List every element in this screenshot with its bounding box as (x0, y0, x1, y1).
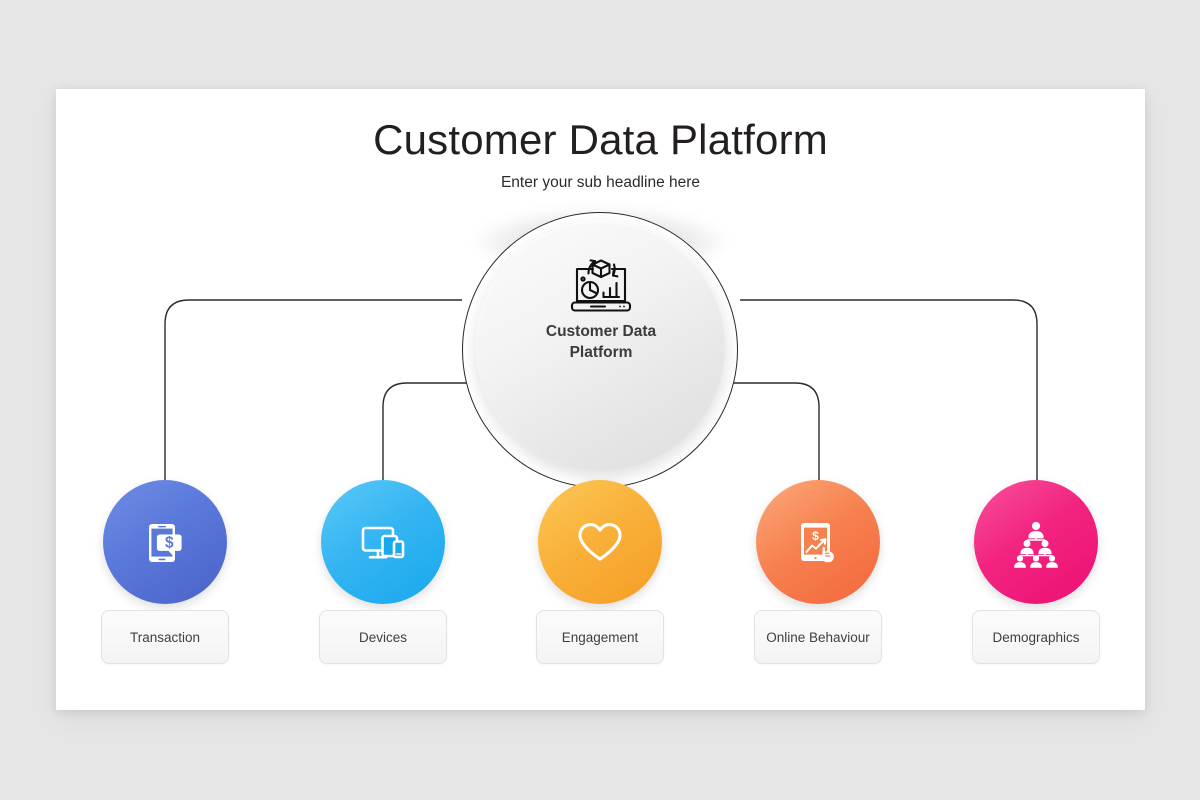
node-label-transaction[interactable]: Transaction (101, 610, 229, 664)
heart-icon (573, 515, 627, 569)
node-circle-demographics[interactable] (974, 480, 1098, 604)
people-hierarchy-icon (1009, 515, 1063, 569)
connector-online-behaviour (732, 383, 819, 480)
node-label-text-demographics: Demographics (992, 630, 1079, 645)
node-label-text-engagement: Engagement (562, 630, 639, 645)
node-circle-devices[interactable] (321, 480, 445, 604)
node-label-text-transaction: Transaction (130, 630, 200, 645)
node-label-engagement[interactable]: Engagement (536, 610, 664, 664)
laptop-data-analytics-icon (568, 257, 634, 317)
hub-label: Customer Data Platform (476, 322, 726, 364)
node-circle-engagement[interactable] (538, 480, 662, 604)
node-circle-transaction[interactable]: $ (103, 480, 227, 604)
svg-text:$: $ (165, 535, 174, 552)
slide-card: Customer Data Platform Enter your sub he… (56, 89, 1145, 710)
hub-node[interactable]: Customer Data Platform (462, 212, 740, 490)
svg-text:$: $ (812, 529, 819, 543)
node-circle-online-behaviour[interactable]: $ (756, 480, 880, 604)
connector-devices (383, 383, 470, 480)
node-label-demographics[interactable]: Demographics (972, 610, 1100, 664)
page-subtitle: Enter your sub headline here (56, 174, 1145, 192)
node-label-devices[interactable]: Devices (319, 610, 447, 664)
hub-label-line1: Customer Data (546, 323, 656, 340)
connector-demographics (740, 300, 1037, 480)
multi-device-icon (356, 515, 410, 569)
connector-transaction (165, 300, 462, 480)
node-label-online-behaviour[interactable]: Online Behaviour (754, 610, 882, 664)
mobile-payment-icon: $ (138, 515, 192, 569)
node-label-text-devices: Devices (359, 630, 407, 645)
tablet-analytics-tap-icon: $ (791, 515, 845, 569)
hub-inner-disc: Customer Data Platform (476, 221, 726, 471)
node-label-text-online-behaviour: Online Behaviour (766, 630, 870, 645)
hub-label-line2: Platform (570, 344, 633, 361)
page-title: Customer Data Platform (56, 116, 1145, 164)
